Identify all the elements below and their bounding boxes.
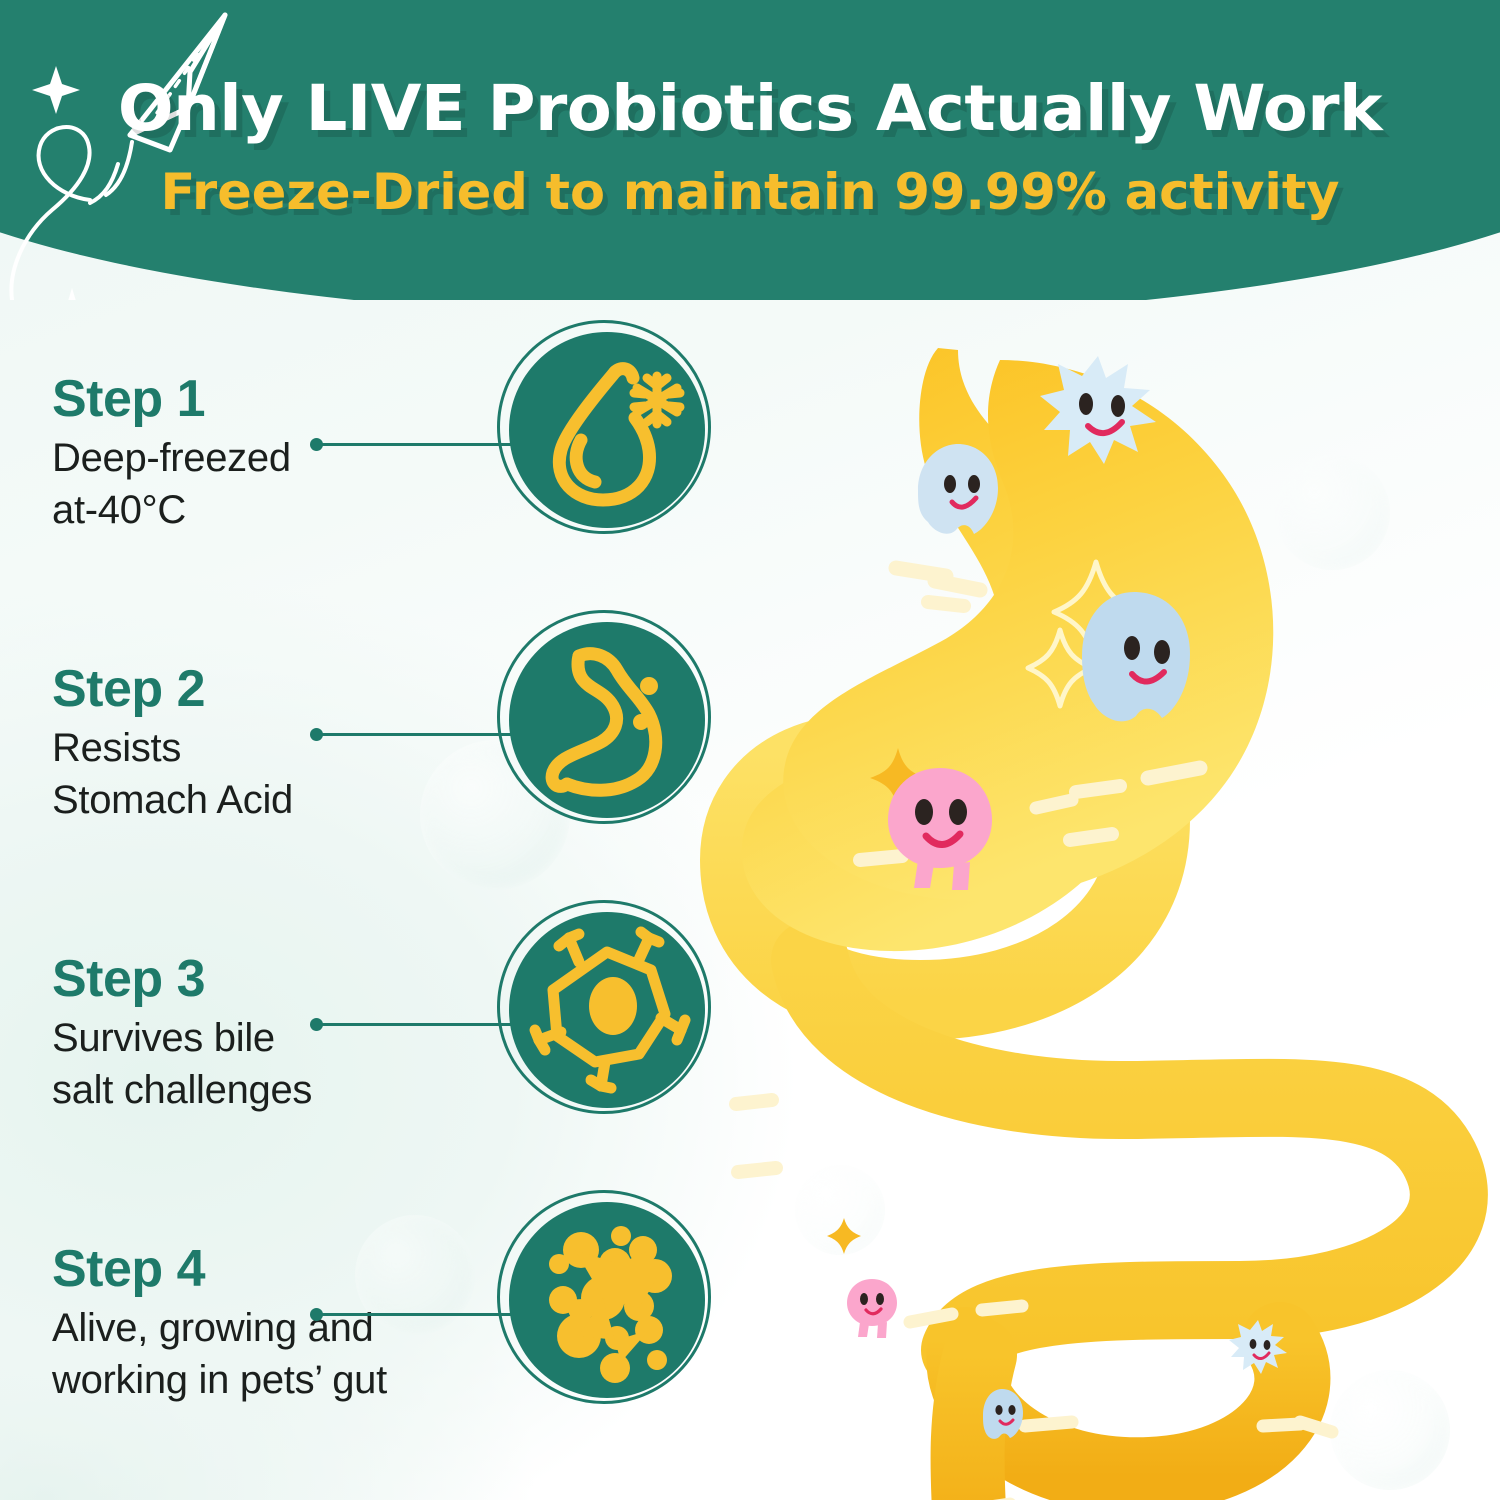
sparkle-diamond-small <box>1028 630 1092 706</box>
page-title: Only LIVE Probiotics Actually Work <box>0 72 1500 145</box>
six-point-star-icon <box>55 288 89 300</box>
microbe-small-blue <box>918 444 998 534</box>
stomach-shape <box>729 345 1273 951</box>
step-item-2[interactable]: Step 2 Resists Stomach Acid <box>0 610 760 900</box>
step-2-text-block: Step 2 Resists Stomach Acid <box>52 662 492 826</box>
sparkle-yellow-group <box>827 748 926 1254</box>
microbe-tiny-blue <box>983 1389 1023 1439</box>
header-banner: Only LIVE Probiotics Actually Work Freez… <box>0 0 1500 300</box>
food-speck-group <box>736 568 1332 1500</box>
background-bubble-3 <box>1330 1370 1450 1490</box>
sparkle-yellow-small <box>870 748 926 808</box>
step-2-connector <box>310 727 510 741</box>
step-1-connector <box>310 437 510 451</box>
step-1-title: Step 1 <box>52 372 492 426</box>
step-2-title: Step 2 <box>52 662 492 716</box>
connector-line <box>319 733 515 737</box>
frozen-droplet-icon <box>509 332 705 528</box>
background-bubble-4 <box>1275 455 1390 570</box>
step-item-1[interactable]: Step 1 Deep-freezed at-40°C <box>0 320 760 610</box>
step-2-icon-badge[interactable] <box>497 610 717 830</box>
microbe-pink-small <box>847 1279 897 1338</box>
title-part-2: Probiotics Actually Work <box>465 72 1382 145</box>
step-item-3[interactable]: Step 3 Survives bile salt challenges <box>0 900 760 1190</box>
infographic-poster: Only LIVE Probiotics Actually Work Freez… <box>0 0 1500 1500</box>
step-1-text-block: Step 1 Deep-freezed at-40°C <box>52 372 492 536</box>
step-4-text-block: Step 4 Alive, growing and working in pet… <box>52 1242 492 1406</box>
microbe-spiky-small-blue <box>1229 1320 1287 1374</box>
step-1-icon-badge[interactable] <box>497 320 717 540</box>
step-3-icon-badge[interactable] <box>497 900 717 1120</box>
sparkle-yellow-tiny <box>827 1218 861 1254</box>
bacteria-colony-icon <box>509 1202 705 1398</box>
microbe-spiky-blue <box>1040 356 1156 464</box>
header-decoration-group <box>0 0 420 300</box>
stomach-outline-icon <box>509 622 705 818</box>
microbe-pink-large <box>888 768 992 890</box>
step-4-title: Step 4 <box>52 1242 492 1296</box>
microbe-round-blue <box>1082 592 1190 721</box>
connector-line <box>319 443 515 447</box>
sparkle-group <box>1028 562 1138 706</box>
sparkle-diamond-large <box>1054 562 1138 662</box>
cell-nucleus-icon <box>509 912 705 1108</box>
page-subtitle: Freeze-Dried to maintain 99.99% activity <box>0 163 1500 221</box>
step-item-4[interactable]: Step 4 Alive, growing and working in pet… <box>0 1190 760 1480</box>
background-bubble-5 <box>795 1165 885 1255</box>
steps-list: Step 1 Deep-freezed at-40°C <box>0 300 760 1500</box>
step-4-icon-badge[interactable] <box>497 1190 717 1410</box>
step-3-text-block: Step 3 Survives bile salt challenges <box>52 952 492 1116</box>
title-live-word: LIVE <box>306 72 466 145</box>
coiled-intestine-shape <box>740 754 1449 1500</box>
step-3-connector <box>310 1017 510 1031</box>
connector-line <box>319 1313 515 1317</box>
title-part-1: Only <box>118 72 306 145</box>
connector-line <box>319 1023 515 1027</box>
digestive-tract-illustration <box>680 300 1500 1500</box>
step-4-connector <box>310 1307 510 1321</box>
step-3-title: Step 3 <box>52 952 492 1006</box>
